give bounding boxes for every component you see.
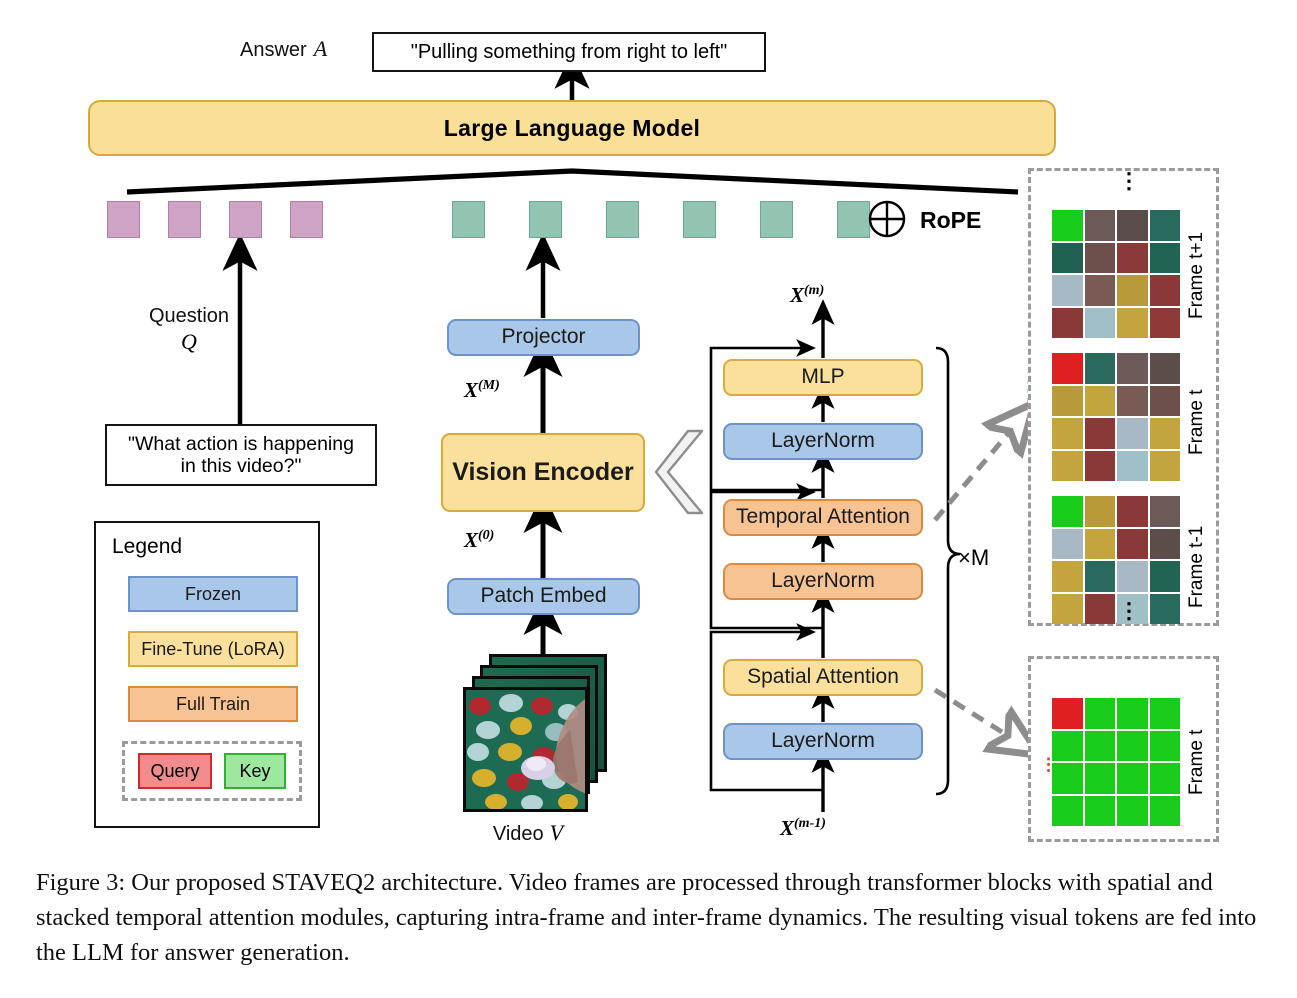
patch [1117,529,1148,560]
patch [1117,561,1148,592]
key-patch [1085,731,1116,762]
patch [1150,594,1181,625]
legend-item-label: Query [150,761,199,782]
visual-token [837,201,870,238]
patch [1052,451,1083,482]
key-patch [1150,698,1181,729]
patch [1085,594,1116,625]
answer-label-text: Answer [240,39,307,62]
question-label-text: Question [129,305,249,328]
block-layer-label: MLP [801,365,844,389]
question-text-box: "What action is happening in this video?… [105,424,377,486]
vision-encoder-label: Vision Encoder [452,458,634,487]
patch-embed-label: Patch Embed [480,584,606,608]
block-layer-label: LayerNorm [771,729,875,753]
temporal-frame-label: Frame t+1 [1186,212,1208,338]
patch [1085,210,1116,241]
patch [1117,386,1148,417]
patch [1117,353,1148,384]
legend-item-label: Key [239,761,270,782]
x-m-out-label: X(m) [790,283,824,308]
patch [1052,243,1083,274]
patch [1085,386,1116,417]
block-layer-label: LayerNorm [771,429,875,453]
question-token [168,201,201,238]
legend-item-key: Key [224,753,286,789]
key-patch [1052,496,1083,527]
legend-item-finetune: Fine-Tune (LoRA) [128,631,298,667]
question-label: Question Q [129,305,249,355]
patch [1085,308,1116,339]
patch [1117,418,1148,449]
patch [1117,243,1148,274]
key-patch [1052,210,1083,241]
x-0-label: X(0) [464,528,494,553]
patch [1150,386,1181,417]
patch [1052,308,1083,339]
answer-symbol: A [314,36,327,62]
legend-title: Legend [112,535,182,559]
temporal-frame-grid [1052,353,1180,481]
spatial-dots: ⋮ [1040,762,1057,767]
block-layer-layernorm-top[interactable]: LayerNorm [723,423,923,460]
patch [1085,451,1116,482]
key-patch [1150,763,1181,794]
question-token [107,201,140,238]
legend-item-label: Frozen [185,584,241,605]
x-m-1-base: X [780,816,794,840]
block-layer-mlp[interactable]: MLP [723,359,923,396]
block-layer-spatial-attention[interactable]: Spatial Attention [723,659,923,696]
block-layer-label: Spatial Attention [747,665,899,689]
x-0-sup: (0) [478,528,494,543]
x-m-sup: (M) [478,378,500,393]
legend: Legend Frozen Fine-Tune (LoRA) Full Trai… [94,521,320,828]
patch-embed-box[interactable]: Patch Embed [447,578,640,615]
temporal-frame-grid [1052,496,1180,624]
key-patch [1117,763,1148,794]
rope-label: RoPE [920,207,981,234]
block-repeat-text: ×M [958,545,989,570]
vision-encoder-box[interactable]: Vision Encoder [441,433,645,512]
legend-attention-group: Query Key [122,741,302,801]
visual-token [760,201,793,238]
visual-token-row [452,201,870,238]
visual-token [529,201,562,238]
patch [1085,529,1116,560]
patch [1150,451,1181,482]
patch [1085,561,1116,592]
patch [1085,275,1116,306]
x-m-label: X(M) [464,378,500,403]
video-caption: Video V [443,820,613,846]
spatial-frame-grid [1052,698,1180,826]
video-label-text: Video [493,823,544,846]
key-patch [1117,698,1148,729]
x-m-base: X [464,378,478,402]
temporal-dots-bottom: ⋮ [1118,608,1140,614]
key-patch [1085,698,1116,729]
patch [1052,418,1083,449]
legend-item-frozen: Frozen [128,576,298,612]
question-token [229,201,262,238]
block-layer-label: LayerNorm [771,569,875,593]
large-language-model-bar[interactable]: Large Language Model [88,100,1056,156]
legend-item-label: Full Train [176,694,250,715]
key-patch [1085,763,1116,794]
x-m-out-sup: (m) [804,283,824,298]
legend-item-label: Fine-Tune (LoRA) [141,639,284,660]
figure-caption-text: Figure 3: Our proposed STAVEQ2 architect… [36,869,1256,966]
temporal-dots-top: ⋮ [1118,178,1140,184]
patch [1150,275,1181,306]
patch [1052,561,1083,592]
patch [1052,594,1083,625]
answer-text: "Pulling something from right to left" [411,41,728,64]
legend-item-fulltrain: Full Train [128,686,298,722]
question-text-line1: "What action is happening [128,433,354,455]
x-m-1-sup: (m-1) [794,816,826,831]
patch [1085,496,1116,527]
figure-caption: Figure 3: Our proposed STAVEQ2 architect… [36,866,1264,970]
question-token [290,201,323,238]
visual-token [606,201,639,238]
patch [1117,210,1148,241]
patch [1150,561,1181,592]
patch [1150,210,1181,241]
legend-item-query: Query [138,753,212,789]
query-patch [1052,353,1083,384]
patch [1150,243,1181,274]
projector-box[interactable]: Projector [447,319,640,356]
question-symbol: Q [129,329,249,355]
video-stack [463,654,623,814]
query-patch [1052,698,1083,729]
patch [1117,275,1148,306]
block-layer-label: Temporal Attention [736,505,910,529]
visual-token [452,201,485,238]
patch [1052,529,1083,560]
temporal-frame-grid [1052,210,1180,338]
llm-label: Large Language Model [444,115,700,141]
patch [1117,308,1148,339]
key-patch [1117,796,1148,827]
temporal-frame-label: Frame t [1186,372,1208,472]
question-token-row [107,201,323,238]
key-patch [1085,796,1116,827]
patch [1085,353,1116,384]
block-layer-layernorm-mid[interactable]: LayerNorm [723,563,923,600]
patch [1052,275,1083,306]
key-patch [1150,796,1181,827]
video-frame-content [466,690,587,811]
patch [1117,496,1148,527]
block-repeat-label: ×M [958,545,989,571]
zoom-chevron-icon [658,428,714,516]
patch [1085,243,1116,274]
rope-plus-icon [868,200,908,240]
patch [1085,418,1116,449]
key-patch [1052,796,1083,827]
temporal-frame-label: Frame t-1 [1186,512,1208,622]
video-symbol: V [550,820,563,846]
block-layer-temporal-attention[interactable]: Temporal Attention [723,499,923,536]
visual-token [683,201,716,238]
spatial-frame-label: Frame t [1186,712,1208,812]
patch [1117,451,1148,482]
x-m-1-in-label: X(m-1) [780,816,826,841]
projector-label: Projector [501,325,585,349]
block-layer-layernorm-bottom[interactable]: LayerNorm [723,723,923,760]
answer-label: Answer A [240,36,327,62]
patch [1052,386,1083,417]
key-patch [1117,731,1148,762]
x-m-out-base: X [790,283,804,307]
rope-label-text: RoPE [920,207,981,233]
patch [1150,353,1181,384]
patch [1150,418,1181,449]
question-text-line2: in this video?" [181,455,302,477]
patch [1150,496,1181,527]
key-patch [1150,731,1181,762]
figure-canvas: Answer A "Pulling something from right t… [0,0,1297,998]
patch [1150,308,1181,339]
x-0-base: X [464,528,478,552]
answer-box: "Pulling something from right to left" [372,32,766,72]
patch [1150,529,1181,560]
video-frame-front [463,687,588,812]
